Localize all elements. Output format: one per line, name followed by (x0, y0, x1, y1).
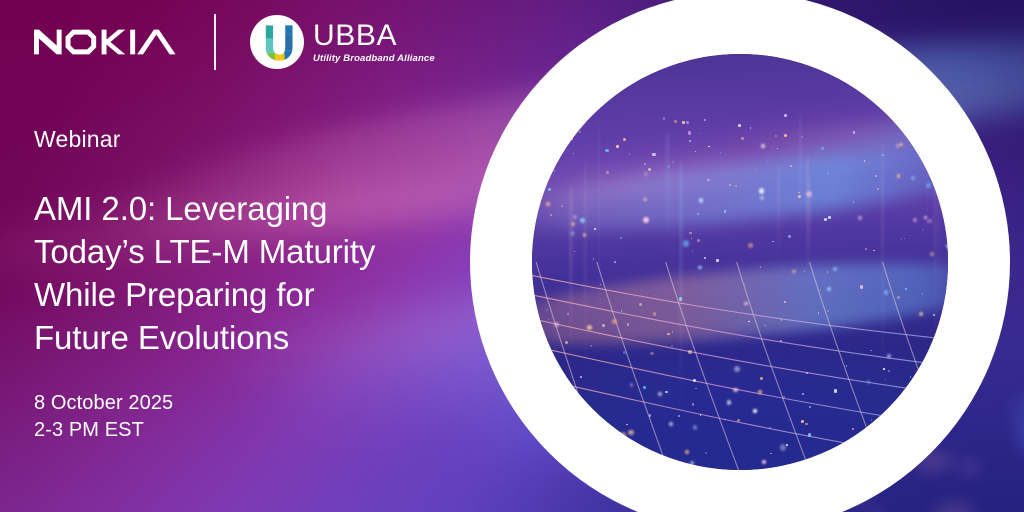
ubba-text-block: UBBA Utility Broadband Alliance (313, 19, 435, 64)
content-block: Webinar AMI 2.0: Leveraging Today’s LTE-… (34, 128, 464, 445)
network-globe-layers (532, 54, 948, 470)
ubba-logo: UBBA Utility Broadband Alliance (250, 15, 435, 69)
event-schedule: 8 October 2025 2-3 PM EST (34, 390, 464, 445)
ubba-tagline: Utility Broadband Alliance (313, 54, 435, 64)
webinar-banner: UBBA Utility Broadband Alliance Webinar … (0, 0, 1024, 512)
eyebrow-label: Webinar (34, 128, 464, 151)
hero-artwork (470, 0, 1010, 512)
ubba-circle-u-logo (250, 15, 304, 69)
event-time: 2-3 PM EST (34, 417, 464, 445)
nokia-wordmark (34, 25, 182, 59)
globe-particles (532, 54, 948, 470)
network-globe-image (532, 54, 948, 470)
logo-lockup-header: UBBA Utility Broadband Alliance (34, 14, 435, 70)
page-title: AMI 2.0: Leveraging Today’s LTE-M Maturi… (34, 188, 464, 360)
logo-divider (214, 14, 216, 70)
event-date: 8 October 2025 (34, 390, 464, 418)
ubba-name: UBBA (313, 21, 435, 51)
